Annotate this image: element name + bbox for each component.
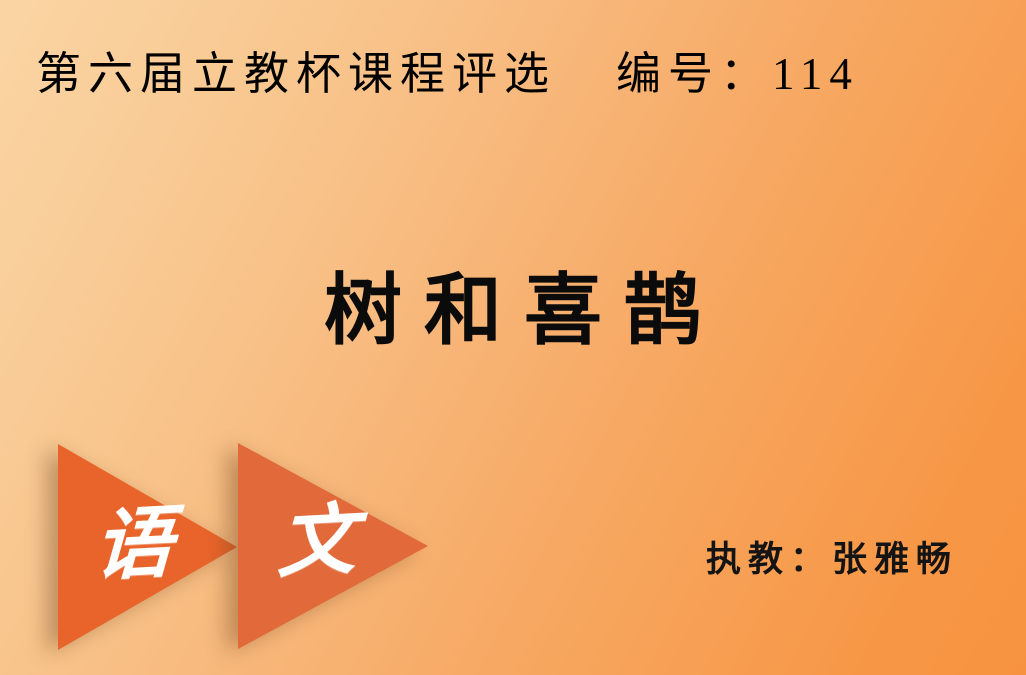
entry-number-label: 编号：114 (616, 52, 859, 97)
slide-header: 第六届立教杯课程评选 编号：114 (36, 52, 859, 97)
subject-badge-character: 文 (277, 501, 358, 583)
competition-title: 第六届立教杯课程评选 (36, 52, 556, 97)
presentation-slide: 第六届立教杯课程评选 编号：114 树和喜鹊 语 文 执教：张雅畅 (0, 0, 1026, 675)
lesson-title: 树和喜鹊 (0, 272, 1026, 350)
presenter-label: 执教：张雅畅 (706, 542, 958, 577)
subject-badge-character: 语 (93, 504, 174, 586)
